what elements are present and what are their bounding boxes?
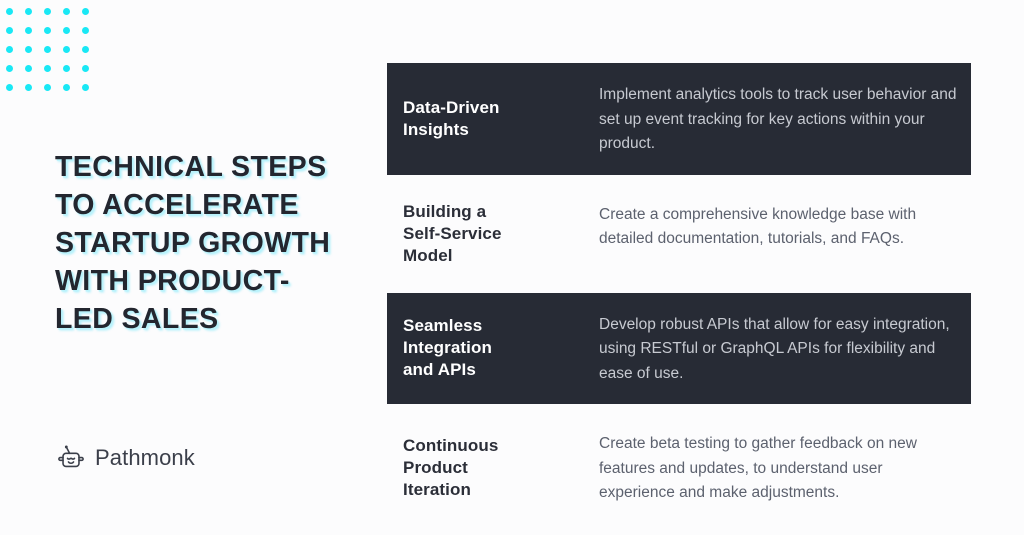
step-title: Continuous Product Iteration	[403, 435, 599, 501]
dot	[6, 27, 13, 34]
dot	[25, 27, 32, 34]
steps-list: Data-Driven Insights Implement analytics…	[387, 63, 971, 524]
step-description: Implement analytics tools to track user …	[599, 81, 957, 157]
step-description: Create a comprehensive knowledge base wi…	[599, 201, 957, 252]
dot	[6, 8, 13, 15]
step-card-1: Data-Driven Insights Implement analytics…	[387, 63, 971, 175]
title-block: TECHNICAL STEPS TO ACCELERATE STARTUP GR…	[55, 148, 365, 338]
dot	[44, 27, 51, 34]
dot	[63, 8, 70, 15]
card-spacer	[387, 404, 971, 412]
dot	[44, 8, 51, 15]
step-title: Building a Self-Service Model	[403, 201, 599, 267]
robot-head-icon	[56, 443, 86, 473]
dot	[25, 65, 32, 72]
page-title: TECHNICAL STEPS TO ACCELERATE STARTUP GR…	[55, 148, 365, 338]
dot	[44, 65, 51, 72]
step-card-3: Seamless Integration and APIs Develop ro…	[387, 293, 971, 405]
card-spacer	[387, 175, 971, 183]
brand-lockup: Pathmonk	[56, 443, 195, 473]
dot	[63, 46, 70, 53]
card-spacer	[387, 285, 971, 293]
step-card-2: Building a Self-Service Model Create a c…	[387, 183, 971, 285]
dot	[82, 46, 89, 53]
dot	[25, 84, 32, 91]
brand-name: Pathmonk	[95, 445, 195, 471]
dot	[63, 65, 70, 72]
step-description: Develop robust APIs that allow for easy …	[599, 311, 957, 387]
dot	[82, 27, 89, 34]
dot	[82, 65, 89, 72]
dot	[44, 46, 51, 53]
dot	[44, 84, 51, 91]
step-description: Create beta testing to gather feedback o…	[599, 430, 957, 506]
dot	[6, 46, 13, 53]
dot	[82, 84, 89, 91]
dot	[6, 65, 13, 72]
step-card-4: Continuous Product Iteration Create beta…	[387, 412, 971, 524]
step-title: Data-Driven Insights	[403, 97, 599, 141]
cyan-dot-grid	[6, 8, 102, 100]
dot	[6, 84, 13, 91]
step-title: Seamless Integration and APIs	[403, 315, 599, 381]
dot	[25, 8, 32, 15]
dot	[82, 8, 89, 15]
dot	[63, 84, 70, 91]
dot	[63, 27, 70, 34]
dot	[25, 46, 32, 53]
